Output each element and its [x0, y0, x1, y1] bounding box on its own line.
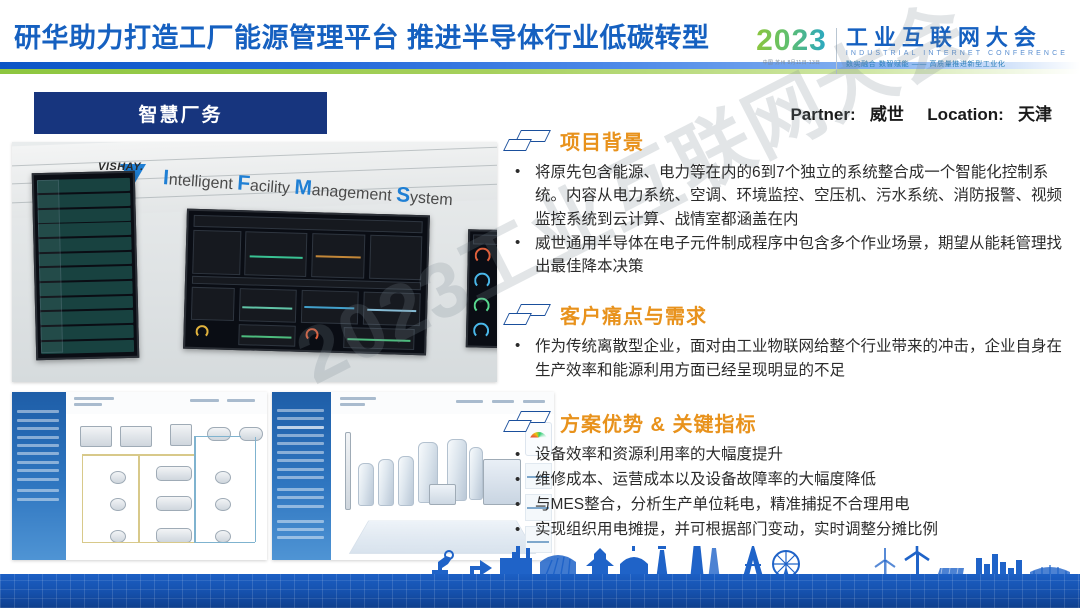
logo-slogan: 数实融合 数智赋能 —— 高质量推进新型工业化 [846, 59, 1068, 69]
logo-divider [836, 28, 837, 74]
section-project-background: 项目背景 将原先包含能源、电力等在内的6到7个独立的系统整合成一个智能化控制系统… [505, 126, 1077, 278]
scada-topbar [66, 392, 267, 414]
parallelogram-icon [505, 303, 549, 327]
plant-sidebar [272, 392, 331, 560]
content-column: 项目背景 将原先包含能源、电力等在内的6到7个独立的系统整合成一个智能化控制系统… [505, 126, 1077, 543]
section-customer-pain-points: 客户痛点与需求 作为传统离散型企业，面对由工业物联网给整个行业带来的冲击，企业自… [505, 300, 1077, 382]
logo-date-location: 中国·苏州 8月11日-13日 [763, 59, 821, 66]
section-heading: 项目背景 [505, 126, 1077, 155]
bullet-list: 设备效率和资源利用率的大幅度提升 维修成本、运营成本以及设备故障率的大幅度降低 … [505, 443, 1077, 542]
logo-year: 2023 [756, 26, 827, 56]
photo-scada-diagram [12, 392, 267, 560]
footer-gradient-band [0, 574, 1080, 608]
partner-label: Partner: [790, 105, 855, 124]
list-item: 与MES整合，分析生产单位耗电，精准捕捉不合理用电 [505, 493, 1077, 517]
section-heading-label: 客户痛点与需求 [560, 300, 707, 329]
list-item: 实现组织用电摊提，并可根据部门变动，实时调整分摊比例 [505, 518, 1077, 542]
bullet-list: 将原先包含能源、电力等在内的6到7个独立的系统整合成一个智能化控制系统。内容从电… [505, 161, 1077, 278]
slide-footer [0, 546, 1080, 608]
bullet-list: 作为传统离散型企业，面对由工业物联网给整个行业带来的冲击，企业自身在生产效率和能… [505, 335, 1077, 382]
logo-name-block: 工业互联网大会 INDUSTRIAL INTERNET CONFERENCE 数… [846, 26, 1068, 69]
section-title-label: 智慧厂务 [138, 100, 222, 127]
page-title: 研华助力打造工厂能源管理平台 推进半导体行业低碳转型 [14, 16, 710, 55]
section-heading: 客户痛点与需求 [505, 300, 1077, 329]
list-item: 设备效率和资源利用率的大幅度提升 [505, 443, 1077, 467]
scada-sidebar [12, 392, 66, 560]
location-label: Location: [927, 105, 1004, 124]
logo-name-en: INDUSTRIAL INTERNET CONFERENCE [846, 50, 1068, 57]
section-heading-label: 方案优势 & 关键指标 [560, 408, 757, 437]
parallelogram-icon [505, 410, 549, 434]
logo-name-cn: 工业互联网大会 [846, 26, 1068, 49]
location-value: 天津 [1018, 105, 1052, 124]
list-item: 将原先包含能源、电力等在内的6到7个独立的系统整合成一个智能化控制系统。内容从电… [505, 161, 1077, 231]
list-item: 作为传统离散型企业，面对由工业物联网给整个行业带来的冲击，企业自身在生产效率和能… [505, 335, 1077, 382]
scada-canvas [66, 392, 267, 560]
logo-year-block: 2023 中国·苏州 8月11日-13日 [756, 26, 836, 66]
conference-logo: 2023 中国·苏州 8月11日-13日 工业互联网大会 INDUSTRIAL … [756, 26, 1068, 76]
presentation-slide: 研华助力打造工厂能源管理平台 推进半导体行业低碳转型 2023 中国·苏州 8月… [0, 0, 1080, 608]
parallelogram-icon [505, 129, 549, 153]
partner-location-line: Partner: 威世 Location: 天津 [790, 100, 1052, 125]
section-heading-label: 项目背景 [560, 126, 644, 155]
section-heading: 方案优势 & 关键指标 [505, 408, 1077, 437]
display-screen-right [466, 229, 497, 348]
list-item: 维修成本、运营成本以及设备故障率的大幅度降低 [505, 468, 1077, 492]
display-screen-left [32, 171, 140, 360]
display-screen-center [183, 209, 430, 356]
section-title-box: 智慧厂务 [34, 92, 327, 134]
section-solution-advantages: 方案优势 & 关键指标 设备效率和资源利用率的大幅度提升 维修成本、运营成本以及… [505, 408, 1077, 542]
list-item: 威世通用半导体在电子元件制成程序中包含多个作业场景，期望从能耗管理找出最佳降本决… [505, 232, 1077, 279]
photo-control-room: VISHAY. Intelligent Facility Management … [12, 142, 497, 382]
partner-value: 威世 [870, 105, 904, 124]
